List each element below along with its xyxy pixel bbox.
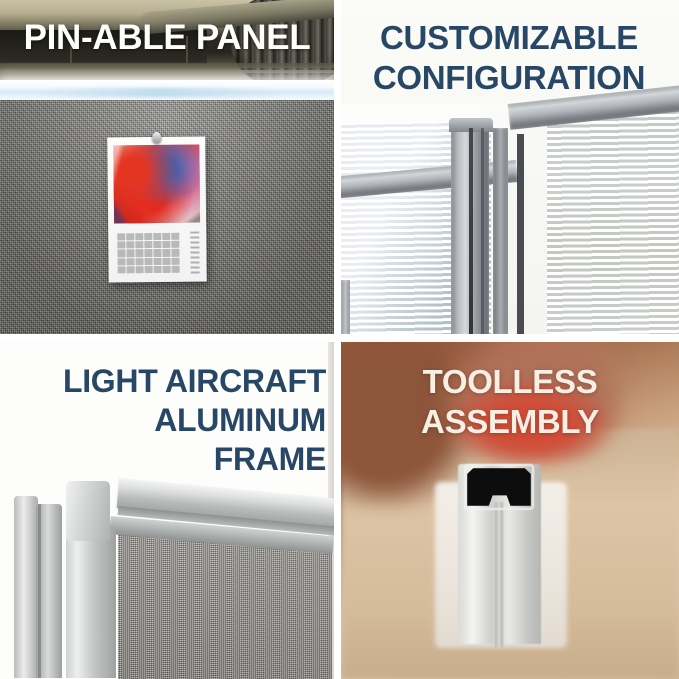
frame-corner-joint-icon — [66, 481, 110, 541]
panel-heading-customizable-configuration: CUSTOMIZABLE CONFIGURATION — [349, 18, 669, 99]
calendar-month-label — [190, 232, 199, 276]
product-feature-infographic: PIN-ABLE PANEL CUSTOMIZABLE CONFIGURATIO… — [0, 0, 679, 679]
ceiling-beam-icon — [0, 63, 334, 68]
window-blinds-right-icon — [547, 104, 679, 334]
panel-heading-light-aircraft-aluminum-frame: LIGHT AIRCRAFT ALUMINUM FRAME — [6, 362, 326, 479]
profile-channel-rim-icon — [464, 464, 534, 510]
post-groove-icon — [469, 128, 473, 334]
glass-partition-photo — [341, 104, 679, 334]
calendar-artwork — [113, 145, 200, 224]
aluminum-left-edge-icon — [341, 280, 350, 334]
post-groove-secondary-icon — [481, 128, 484, 334]
panel-heading-toolless-assembly: TOOLLESS ASSEMBLY — [351, 362, 669, 443]
panel-toolless-assembly: TOOLLESS ASSEMBLY — [341, 342, 679, 679]
profile-center-rib-icon — [495, 502, 503, 647]
ceiling-beam-secondary-icon — [0, 70, 334, 73]
pinned-calendar — [107, 136, 207, 282]
post-seam-icon — [38, 504, 41, 678]
fluorescent-light-icon — [0, 80, 334, 102]
panel-customizable-configuration: CUSTOMIZABLE CONFIGURATION — [341, 0, 679, 334]
panel-heading-pin-able-panel: PIN-ABLE PANEL — [0, 20, 334, 56]
aluminum-frame-photo — [0, 468, 334, 679]
glass-mullion-icon — [517, 134, 524, 334]
grid-divider-horizontal — [0, 334, 679, 342]
aluminum-post-a-icon — [14, 496, 38, 678]
panel-light-aircraft-aluminum-frame: LIGHT AIRCRAFT ALUMINUM FRAME — [0, 342, 334, 679]
gray-fabric-panel — [118, 530, 332, 679]
frame-corner-face-icon — [66, 528, 116, 678]
push-pin-icon — [152, 132, 161, 143]
post-right-face-icon — [493, 128, 508, 334]
panel-pin-able-panel: PIN-ABLE PANEL — [0, 0, 334, 334]
calendar-date-grid — [117, 233, 179, 274]
